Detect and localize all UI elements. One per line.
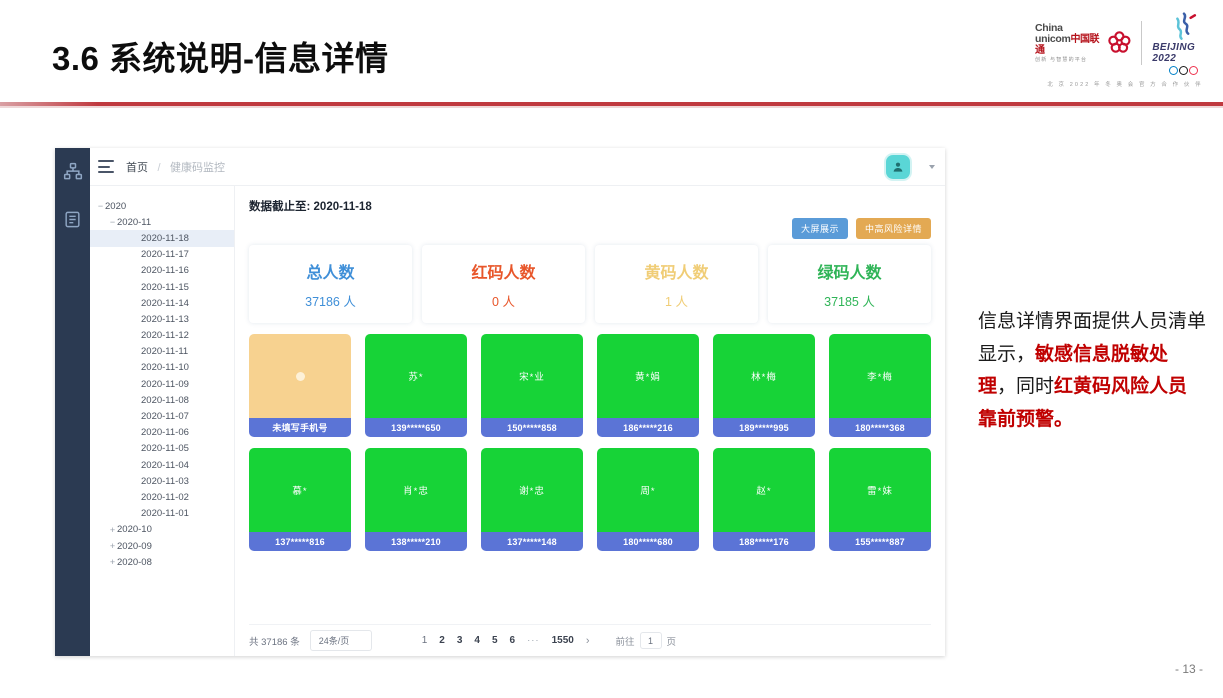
tree-node-label: 2020-11-02	[141, 492, 189, 503]
tree-node-2020-09[interactable]: +2020-09	[90, 538, 234, 554]
person-phone: 189*****995	[713, 418, 815, 437]
person-phone: 139*****650	[365, 418, 467, 437]
tree-expander-icon[interactable]: −	[108, 217, 117, 227]
annotation-text: 信息详情界面提供人员清单显示，敏感信息脱敏处理，同时红黄码风险人员靠前预警。	[978, 305, 1206, 436]
slide-page-number: - 13 -	[1175, 662, 1203, 676]
person-name: 慕*	[292, 483, 307, 497]
person-phone: 未填写手机号	[249, 418, 351, 437]
beijing-2022-wordmark: BEIJING 2022	[1152, 42, 1215, 64]
bigscreen-button[interactable]: 大屏展示	[792, 218, 848, 239]
unicom-en-line2: unicom中国联通	[1035, 34, 1101, 56]
person-card-body: 肖*忠	[365, 448, 467, 532]
pagination-next-icon[interactable]: ›	[586, 635, 590, 647]
person-card-body: 周*	[597, 448, 699, 532]
tree-node-2020-11-12[interactable]: 2020-11-12	[90, 328, 234, 344]
jump-page-input[interactable]: 1	[640, 632, 662, 649]
tree-node-label: 2020-09	[117, 541, 152, 552]
person-card-body: 黄*娟	[597, 334, 699, 418]
tree-expander-icon[interactable]: +	[108, 557, 117, 567]
stat-card-value: 37186 人	[305, 291, 356, 310]
tree-node-2020-11-01[interactable]: 2020-11-01	[90, 506, 234, 522]
stat-card-总人数: 总人数37186 人	[249, 245, 412, 323]
china-unicom-logo: China unicom中国联通 创新 与智慧的平台	[1035, 23, 1141, 63]
data-cutoff-label: 数据截止至: 2020-11-18	[249, 198, 372, 214]
person-card-body	[249, 334, 351, 418]
person-name: 林*梅	[751, 369, 777, 383]
tree-node-label: 2020-11-12	[141, 330, 189, 341]
tree-node-2020-11-04[interactable]: 2020-11-04	[90, 457, 234, 473]
tree-node-label: 2020-11-17	[141, 249, 189, 260]
user-icon	[891, 160, 905, 174]
person-card[interactable]: 黄*娟186*****216	[597, 334, 699, 437]
tree-node-label: 2020-11	[117, 217, 151, 228]
person-name: 宋*业	[519, 369, 545, 383]
person-card[interactable]: 谢*忠137*****148	[481, 448, 583, 551]
tree-node-label: 2020-11-11	[141, 346, 188, 357]
pagination-page-6[interactable]: 6	[510, 635, 516, 646]
tree-expander-icon[interactable]: −	[96, 201, 105, 211]
unicom-flower-icon	[1106, 28, 1133, 58]
tree-node-label: 2020-11-13	[141, 314, 189, 325]
org-tree-icon[interactable]	[63, 162, 83, 182]
olympic-rings-icon	[1169, 66, 1198, 75]
tree-node-label: 2020-11-03	[141, 476, 189, 487]
person-card-body: 赵*	[713, 448, 815, 532]
avatar[interactable]	[886, 155, 910, 179]
unicom-tagline: 创新 与智慧的平台	[1035, 58, 1101, 63]
person-phone: 155*****887	[829, 532, 931, 551]
person-card[interactable]: 宋*业150*****858	[481, 334, 583, 437]
person-card[interactable]: 肖*忠138*****210	[365, 448, 467, 551]
person-phone: 137*****816	[249, 532, 351, 551]
person-card[interactable]: 周*180*****680	[597, 448, 699, 551]
tree-node-2020-11-06[interactable]: 2020-11-06	[90, 425, 234, 441]
tree-node-2020-11-05[interactable]: 2020-11-05	[90, 441, 234, 457]
tree-node-2020-11-14[interactable]: 2020-11-14	[90, 295, 234, 311]
tree-node-label: 2020-11-14	[141, 298, 189, 309]
person-phone: 188*****176	[713, 532, 815, 551]
person-card[interactable]: 赵*188*****176	[713, 448, 815, 551]
person-phone: 137*****148	[481, 532, 583, 551]
annotation-part3: 。	[1054, 408, 1073, 430]
chevron-down-icon[interactable]	[929, 165, 935, 169]
tree-node-2020-11-15[interactable]: 2020-11-15	[90, 279, 234, 295]
menu-collapse-icon[interactable]	[98, 160, 114, 173]
person-card-body: 宋*业	[481, 334, 583, 418]
pagination-total: 共 37186 条	[249, 634, 300, 648]
tree-node-label: 2020-11-04	[141, 460, 189, 471]
person-name: 谢*忠	[519, 483, 545, 497]
beijing-2022-emblem-icon	[1167, 12, 1201, 42]
pagination-last-page[interactable]: 1550	[552, 635, 574, 646]
tree-node-2020-11[interactable]: −2020-11	[90, 214, 234, 230]
pagination-page-1[interactable]: 1	[422, 635, 428, 646]
tree-node-label: 2020-10	[117, 524, 152, 535]
person-phone: 180*****368	[829, 418, 931, 437]
annotation-part2: ，同时	[997, 375, 1054, 397]
tree-node-label: 2020-11-05	[141, 443, 189, 454]
person-card-body: 慕*	[249, 448, 351, 532]
placeholder-avatar-icon	[296, 372, 305, 381]
app-screenshot: 首页 / 健康码监控 −2020−2020-112020-11-182020-1…	[55, 148, 945, 656]
person-name: 雷*妹	[867, 483, 893, 497]
person-phone: 150*****858	[481, 418, 583, 437]
person-card[interactable]: 林*梅189*****995	[713, 334, 815, 437]
stat-card-value: 0 人	[492, 291, 515, 310]
tree-node-2020-11-09[interactable]: 2020-11-09	[90, 376, 234, 392]
breadcrumb: 首页 / 健康码监控	[126, 158, 225, 176]
stat-card-黄码人数: 黄码人数1 人	[595, 245, 758, 323]
jump-suffix-label: 页	[667, 634, 677, 648]
tree-node-label: 2020-11-08	[141, 395, 189, 406]
person-name: 赵*	[756, 483, 771, 497]
tree-node-2020-11-11[interactable]: 2020-11-11	[90, 344, 234, 360]
stat-card-绿码人数: 绿码人数37185 人	[768, 245, 931, 323]
person-name: 苏*	[408, 369, 423, 383]
page-title: 3.6 系统说明-信息详情	[52, 32, 389, 80]
person-card-body: 谢*忠	[481, 448, 583, 532]
tree-node-2020-11-17[interactable]: 2020-11-17	[90, 247, 234, 263]
breadcrumb-separator: /	[157, 162, 160, 174]
pagination-page-3[interactable]: 3	[457, 635, 463, 646]
person-phone: 186*****216	[597, 418, 699, 437]
jump-prefix-label: 前往	[616, 634, 635, 648]
person-card-body: 苏*	[365, 334, 467, 418]
pagination-numbers: 123456···1550›	[422, 635, 590, 647]
person-card-body: 林*梅	[713, 334, 815, 418]
tree-node-label: 2020-11-10	[141, 362, 189, 373]
stat-card-title: 绿码人数	[817, 259, 881, 283]
tree-node-2020-11-03[interactable]: 2020-11-03	[90, 473, 234, 489]
person-card[interactable]: 雷*妹155*****887	[829, 448, 931, 551]
app-content: 数据截止至: 2020-11-18 大屏展示 中高风险详情 总人数37186 人…	[235, 186, 945, 656]
tree-node-2020-11-18[interactable]: 2020-11-18	[90, 230, 234, 246]
action-buttons: 大屏展示 中高风险详情	[792, 218, 931, 239]
tree-node-2020-11-07[interactable]: 2020-11-07	[90, 408, 234, 424]
stat-card-value: 1 人	[665, 291, 688, 310]
person-card-grid: 未填写手机号苏*139*****650宋*业150*****858黄*娟186*…	[249, 334, 931, 551]
breadcrumb-current: 健康码监控	[170, 162, 225, 174]
person-card[interactable]: 未填写手机号	[249, 334, 351, 437]
header-divider-line-secondary	[0, 106, 1223, 108]
person-name: 李*梅	[867, 369, 893, 383]
logo-group: China unicom中国联通 创新 与智慧的平台 BEIJING 2022	[1035, 12, 1215, 102]
stat-card-红码人数: 红码人数0 人	[422, 245, 585, 323]
tree-node-label: 2020-11-16	[141, 265, 189, 276]
stat-card-title: 黄码人数	[644, 259, 708, 283]
tree-node-2020-08[interactable]: +2020-08	[90, 554, 234, 570]
person-name: 黄*娟	[635, 369, 661, 383]
tree-node-label: 2020-11-07	[141, 411, 189, 422]
tree-node-2020-11-16[interactable]: 2020-11-16	[90, 263, 234, 279]
report-icon[interactable]	[63, 210, 83, 230]
stat-card-value: 37185 人	[824, 291, 875, 310]
person-name: 肖*忠	[403, 483, 429, 497]
tree-node-label: 2020-11-01	[141, 508, 189, 519]
tree-node-2020-11-02[interactable]: 2020-11-02	[90, 489, 234, 505]
person-card[interactable]: 慕*137*****816	[249, 448, 351, 551]
pagination-page-4[interactable]: 4	[474, 635, 480, 646]
person-phone: 138*****210	[365, 532, 467, 551]
tree-expander-icon[interactable]: +	[108, 541, 117, 551]
person-card[interactable]: 李*梅180*****368	[829, 334, 931, 437]
pagination: 共 37186 条 24条/页 123456···1550› 前往 1 页	[249, 624, 931, 656]
tree-node-2020-11-13[interactable]: 2020-11-13	[90, 311, 234, 327]
date-tree[interactable]: −2020−2020-112020-11-182020-11-172020-11…	[90, 186, 235, 656]
risk-detail-button[interactable]: 中高风险详情	[856, 218, 931, 239]
pagination-ellipsis: ···	[527, 635, 540, 646]
stat-card-title: 红码人数	[471, 259, 535, 283]
tree-node-2020-11-08[interactable]: 2020-11-08	[90, 392, 234, 408]
app-topbar: 首页 / 健康码监控	[90, 148, 945, 186]
pagination-page-2[interactable]: 2	[439, 635, 445, 646]
tree-node-label: 2020-11-15	[141, 282, 189, 293]
tree-node-label: 2020-08	[117, 557, 152, 568]
person-name: 周*	[640, 483, 655, 497]
breadcrumb-home[interactable]: 首页	[126, 162, 148, 174]
stat-card-title: 总人数	[306, 259, 354, 283]
tree-node-label: 2020-11-18	[141, 233, 189, 244]
tree-node-label: 2020	[105, 201, 126, 212]
tree-node-label: 2020-11-06	[141, 427, 189, 438]
person-card[interactable]: 苏*139*****650	[365, 334, 467, 437]
pagination-page-5[interactable]: 5	[492, 635, 498, 646]
beijing-2022-logo: BEIJING 2022	[1142, 12, 1215, 75]
page-size-select[interactable]: 24条/页	[310, 630, 372, 651]
pagination-jump: 前往 1 页	[616, 632, 677, 649]
person-phone: 180*****680	[597, 532, 699, 551]
stat-cards: 总人数37186 人红码人数0 人黄码人数1 人绿码人数37185 人	[249, 245, 931, 323]
tree-expander-icon[interactable]: +	[108, 525, 117, 535]
tree-node-2020-11-10[interactable]: 2020-11-10	[90, 360, 234, 376]
tree-node-2020[interactable]: −2020	[90, 198, 234, 214]
person-card-body: 李*梅	[829, 334, 931, 418]
partner-line: 北 京 2022 年 冬 奥 会 官 方 合 作 伙 伴	[1035, 80, 1215, 88]
tree-node-label: 2020-11-09	[141, 379, 189, 390]
tree-node-2020-10[interactable]: +2020-10	[90, 522, 234, 538]
person-card-body: 雷*妹	[829, 448, 931, 532]
app-left-rail	[55, 148, 90, 656]
